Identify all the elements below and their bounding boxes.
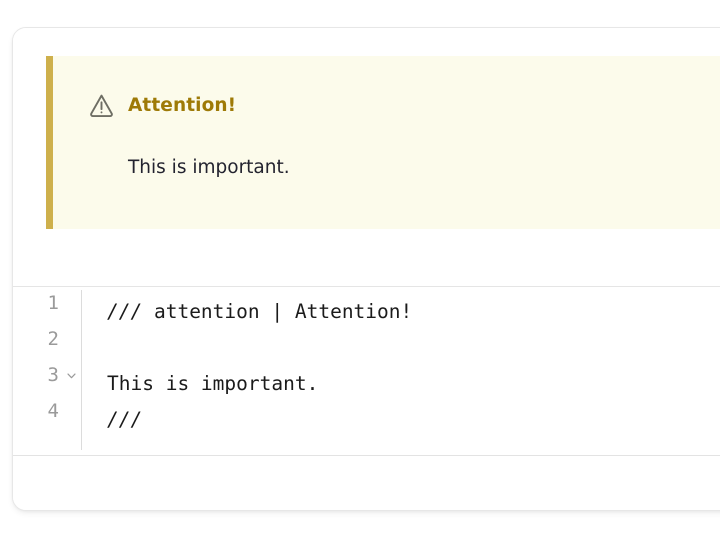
code-line[interactable]: 1/// attention | Attention! xyxy=(13,294,720,330)
fold-toggle[interactable] xyxy=(64,370,79,381)
admonition-body-text: This is important. xyxy=(128,157,290,178)
line-gutter: 3 xyxy=(13,366,81,385)
card-footer-area xyxy=(13,457,720,510)
line-gutter: 2 xyxy=(13,330,81,349)
code-line-text: This is important. xyxy=(81,366,720,402)
code-segment: /// xyxy=(107,300,142,323)
code-segment: /// xyxy=(107,408,142,431)
line-number: 3 xyxy=(48,366,59,385)
code-line-list: 1/// attention | Attention!23This is imp… xyxy=(13,294,720,438)
line-number: 4 xyxy=(48,402,59,421)
rendered-preview-pane: Attention! This is important. xyxy=(13,28,720,287)
code-segment: attention | Attention! xyxy=(142,300,412,323)
line-number: 1 xyxy=(48,294,59,313)
warning-triangle-icon xyxy=(88,92,115,119)
chevron-down-icon xyxy=(66,370,77,381)
code-line-text: /// attention | Attention! xyxy=(81,294,720,330)
code-line[interactable]: 4/// xyxy=(13,402,720,438)
code-segment: This is important. xyxy=(107,372,318,395)
code-line[interactable]: 3This is important. xyxy=(13,366,720,402)
code-line-text: /// xyxy=(81,402,720,438)
admonition-title: Attention! xyxy=(128,95,236,116)
attention-admonition: Attention! This is important. xyxy=(46,56,720,229)
source-code-pane[interactable]: 1/// attention | Attention!23This is imp… xyxy=(13,288,720,456)
line-gutter: 4 xyxy=(13,402,81,421)
screenshot-stage: Attention! This is important. 1/// atten… xyxy=(0,0,720,544)
admonition-demo-card: Attention! This is important. 1/// atten… xyxy=(12,27,720,511)
line-number: 2 xyxy=(48,330,59,349)
admonition-title-row: Attention! xyxy=(88,92,236,119)
line-gutter: 1 xyxy=(13,294,81,313)
code-line[interactable]: 2 xyxy=(13,330,720,366)
